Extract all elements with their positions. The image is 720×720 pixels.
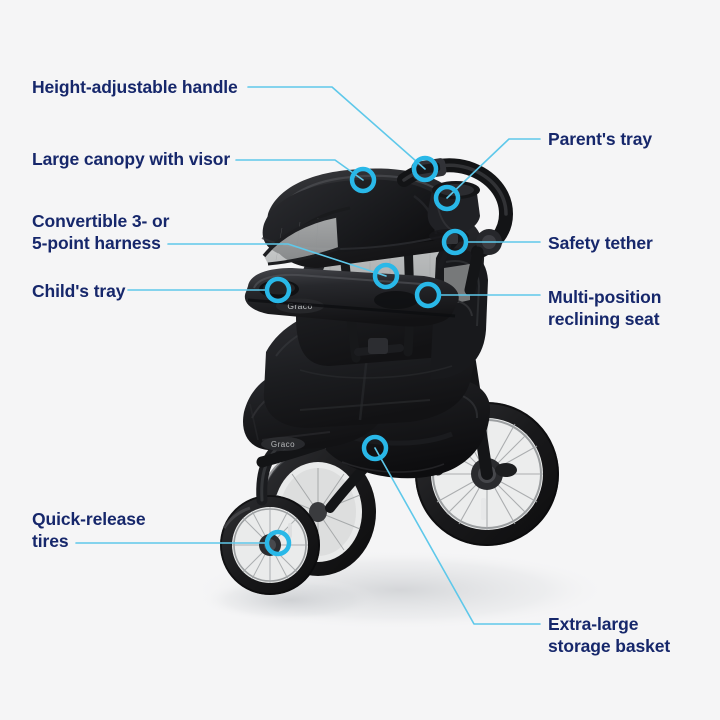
leader-line-large-canopy-with-visor (236, 160, 363, 180)
callout-marker-safety-tether[interactable] (444, 231, 466, 253)
callout-label-height-adjustable-handle: Height-adjustable handle (32, 76, 238, 98)
callout-marker-quick-release-tires[interactable] (267, 532, 289, 554)
leader-line-parents-tray (447, 139, 540, 198)
feature-callout-diagram: Graco (0, 0, 720, 720)
callout-leader-layer (0, 0, 720, 720)
callout-label-multi-position-reclining-seat: Multi-position reclining seat (548, 286, 661, 331)
callout-label-large-canopy-with-visor: Large canopy with visor (32, 148, 230, 170)
callout-label-childs-tray: Child's tray (32, 280, 125, 302)
leader-line-extra-large-storage-basket (375, 448, 540, 624)
callout-label-safety-tether: Safety tether (548, 232, 653, 254)
callout-label-extra-large-storage-basket: Extra-large storage basket (548, 613, 670, 658)
callout-label-parents-tray: Parent's tray (548, 128, 652, 150)
callout-marker-childs-tray[interactable] (267, 279, 289, 301)
leader-line-height-adjustable-handle (248, 87, 425, 169)
callout-marker-multi-position-reclining-seat[interactable] (417, 284, 439, 306)
leader-line-convertible-harness (168, 244, 386, 276)
callout-label-quick-release-tires: Quick-release tires (32, 508, 146, 553)
callout-label-convertible-harness: Convertible 3- or 5-point harness (32, 210, 169, 255)
